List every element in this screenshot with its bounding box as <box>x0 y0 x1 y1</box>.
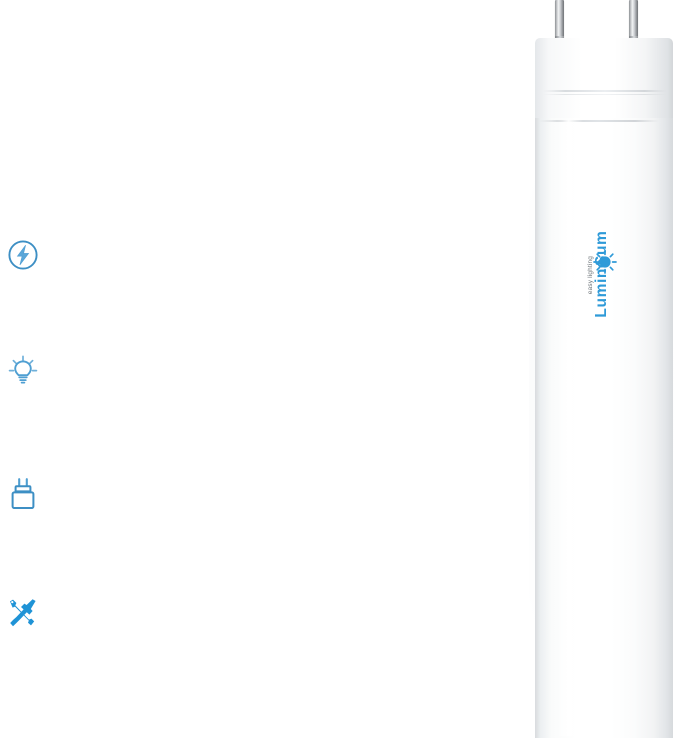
lightning-bolt-circle-icon <box>7 239 39 271</box>
feature-item-lumens <box>0 350 545 470</box>
bi-pin-right <box>629 0 638 41</box>
tube-end-cap <box>535 38 673 124</box>
end-cap-seam <box>543 94 667 95</box>
feature-list <box>0 232 545 704</box>
end-cap-seam <box>543 90 667 92</box>
feature-item-watts <box>0 235 545 347</box>
brand-wordmark-bottom: Sum <box>593 231 610 266</box>
feature-item-g13-base <box>0 473 545 591</box>
brand-tagline: easy lighting <box>587 256 594 294</box>
brand-logo: Lumino Sum easy lighting <box>579 196 619 326</box>
product-specifications-image: Lumino Sum easy lighting <box>0 0 679 738</box>
bi-pin-left <box>555 0 564 41</box>
led-tube-product-photo: Lumino Sum easy lighting <box>529 0 679 738</box>
feature-item-ballast-bypass <box>0 594 545 704</box>
bi-pin-base-socket-icon <box>7 477 39 509</box>
hammer-wrench-tools-icon <box>7 598 39 630</box>
light-bulb-rays-icon <box>7 354 39 386</box>
